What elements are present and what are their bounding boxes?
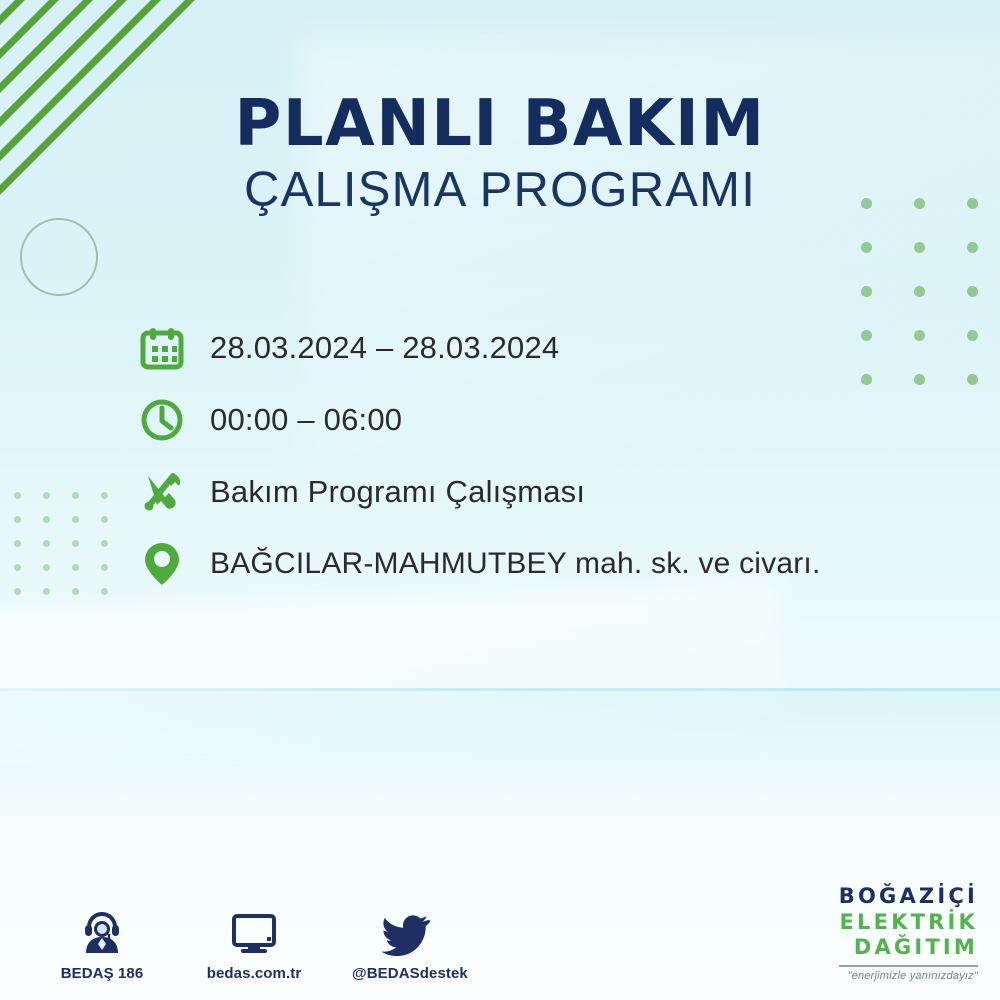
- contact-twitter-label: @BEDASdestek: [352, 965, 460, 982]
- contact-website[interactable]: bedas.com.tr: [200, 908, 308, 982]
- calendar-icon: [134, 320, 190, 376]
- logo-divider: [839, 965, 978, 967]
- info-row-worktype: Bakım Programı Çalışması: [134, 456, 934, 528]
- support-agent-icon: [48, 908, 156, 956]
- contact-website-label: bedas.com.tr: [200, 965, 308, 982]
- contact-phone[interactable]: BEDAŞ 186: [48, 908, 156, 982]
- contact-twitter[interactable]: @BEDASdestek: [352, 908, 460, 982]
- info-row-worktype-label: Bakım Programı Çalışması: [210, 474, 585, 510]
- logo-tagline: "enerjimizle yanınızdayız": [839, 970, 978, 982]
- tools-icon: [134, 464, 190, 520]
- monitor-icon: [200, 908, 308, 956]
- outage-info-list: 28.03.2024 – 28.03.2024 00:00 – 06:00 Ba…: [134, 312, 934, 600]
- info-row-time: 00:00 – 06:00: [134, 384, 934, 456]
- info-row-location: BAĞCILAR-MAHMUTBEY mah. sk. ve civarı.: [134, 528, 934, 600]
- circle-outline-decoration: [20, 218, 98, 296]
- info-row-time-label: 00:00 – 06:00: [210, 402, 402, 438]
- twitter-bird-icon: [352, 908, 460, 956]
- footer-contacts: BEDAŞ 186 bedas.com.tr @BEDASdestek: [48, 908, 460, 982]
- page-title-primary: PLANLI BAKIM: [0, 92, 1000, 157]
- clock-icon: [134, 392, 190, 448]
- info-row-date: 28.03.2024 – 28.03.2024: [134, 312, 934, 384]
- page-title-secondary: ÇALIŞMA PROGRAMI: [0, 165, 1000, 216]
- logo-line-dagitim: DAĞITIM: [839, 935, 978, 961]
- page-header: PLANLI BAKIM ÇALIŞMA PROGRAMI: [0, 92, 1000, 217]
- contact-phone-label: BEDAŞ 186: [48, 965, 156, 982]
- logo-line-elektrik: ELEKTRİK: [839, 910, 978, 936]
- logo-line-bogazici: BOĞAZİÇİ: [839, 884, 978, 910]
- dot-grid-left-decoration: [14, 492, 108, 595]
- company-logo: BOĞAZİÇİ ELEKTRİK DAĞITIM "enerjimizle y…: [839, 884, 978, 982]
- location-pin-icon: [134, 536, 190, 592]
- info-row-date-label: 28.03.2024 – 28.03.2024: [210, 330, 559, 366]
- info-row-location-label: BAĞCILAR-MAHMUTBEY mah. sk. ve civarı.: [210, 547, 821, 581]
